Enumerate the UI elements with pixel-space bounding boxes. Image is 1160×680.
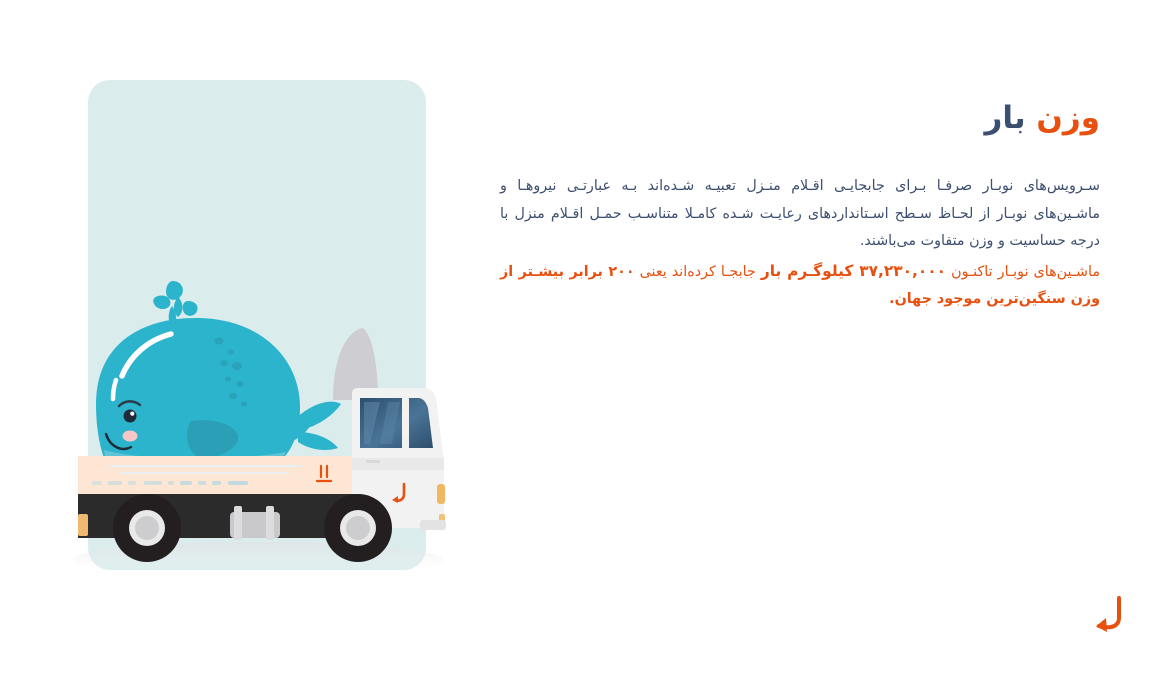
truck-front-wheel	[324, 494, 392, 562]
illustration-panel	[0, 0, 500, 680]
content-panel: وزن بار سـرویس‌های نوبـار صرفـا بـرای جا…	[500, 100, 1100, 314]
whale-blush	[123, 431, 138, 442]
highlight-paragraph: ماشـین‌های نوبـار تاکنـون ۳۷,۲۳۰,۰۰۰ کیل…	[500, 258, 1100, 314]
highlight-prefix: ماشـین‌های نوبـار تاکنـون	[946, 264, 1100, 280]
truck-cab-shade	[352, 458, 444, 470]
page-title-accent: وزن	[1036, 100, 1100, 136]
highlight-middle: جابجـا کرده‌اند یعنی	[635, 264, 761, 280]
truck-marker-light	[437, 484, 445, 504]
page-title: وزن بار	[500, 100, 1100, 137]
highlight-figure: ۳۷,۲۳۰,۰۰۰ کیلوگـرم بار	[761, 262, 946, 280]
truck-rear-step	[78, 514, 88, 536]
page-title-main: بار	[984, 100, 1025, 136]
truck-bed	[78, 456, 352, 494]
body-copy: سـرویس‌های نوبـار صرفـا بـرای جابجایـی ا…	[500, 173, 1100, 314]
truck-rear-wheel	[113, 494, 181, 562]
truck-window	[360, 396, 433, 450]
intro-paragraph: سـرویس‌های نوبـار صرفـا بـرای جابجایـی ا…	[500, 173, 1100, 256]
return-arrow-icon	[1086, 592, 1132, 638]
whale-on-truck-illustration	[0, 0, 500, 680]
return-arrow-button[interactable]	[1086, 592, 1132, 638]
truck-door-handle	[366, 460, 380, 463]
truck-front-bumper	[420, 520, 446, 530]
